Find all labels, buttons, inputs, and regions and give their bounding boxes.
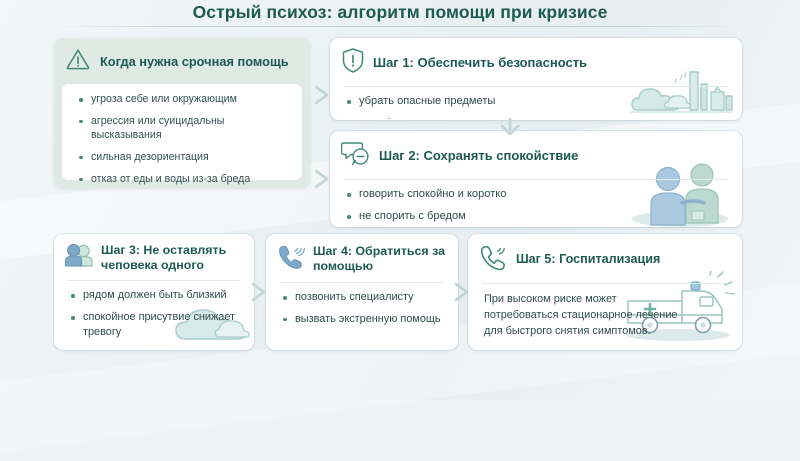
step3-list: рядом должен быть близкий спокойное прис… — [54, 281, 254, 349]
step5-header: Шаг 5: Госпитализация — [468, 234, 742, 276]
panel-step-5: Шаг 5: Госпитализация При высоком риске … — [468, 234, 742, 350]
chevron-step3-to-step4 — [249, 281, 271, 308]
urgent-header: Когда нужна срочная помощь — [54, 38, 310, 76]
step4-title: Шаг 4: Обратиться за помощью — [313, 244, 446, 274]
list-item: убрать опасные предметы — [346, 94, 730, 109]
chevron-urgent-to-step2 — [312, 168, 334, 195]
warning-triangle-icon — [65, 47, 91, 76]
arrow-step1-to-step2 — [497, 118, 523, 140]
phone-call-icon — [479, 243, 508, 276]
step1-header: Шаг 1: Обеспечить безопасность — [330, 38, 742, 79]
list-item: сильная дезориентация — [78, 150, 292, 164]
list-item: позвонить специалисту — [282, 290, 446, 305]
page-title: Острый психоз: алгоритм помощи при кризи… — [0, 2, 800, 23]
urgent-list-card: угроза себе или окружающим агрессия или … — [62, 84, 302, 180]
step1-title: Шаг 1: Обеспечить безопасность — [373, 55, 587, 71]
panel-step-4: Шаг 4: Обратиться за помощью позвонить с… — [266, 234, 458, 350]
list-item: отказ от еды и воды из-за бреда — [78, 172, 292, 186]
step2-header: Шаг 2: Сохранять спокойствие — [330, 131, 742, 172]
title-divider — [55, 26, 745, 27]
step5-body: При высоком риске может потребоваться ст… — [468, 284, 698, 340]
list-item: говорить спокойно и коротко — [346, 187, 730, 202]
list-item: ограninить доступ к окнам и лекарствам — [346, 116, 730, 120]
step4-list: позвонить специалисту вызвать экстренную… — [266, 283, 458, 336]
step2-list: говорить спокойно и коротко не спорить с… — [330, 180, 742, 227]
chevron-step4-to-step5 — [452, 281, 474, 308]
step2-title: Шаг 2: Сохранять спокойствие — [379, 148, 578, 164]
step3-title: Шаг 3: Не оставлять чеповека одного — [101, 243, 242, 273]
list-item: агрессия или суицидальны высказывания — [78, 114, 292, 143]
speech-bubbles-icon — [341, 140, 371, 172]
step4-header: Шаг 4: Обратиться за помощью — [266, 234, 458, 275]
panel-step-3: Шаг 3: Не оставлять чеповека одного рядо… — [54, 234, 254, 350]
list-item: спокойное присутвие снижает тревогу — [70, 310, 242, 339]
shield-exclamation-icon — [341, 47, 365, 79]
panel-step-1: Шаг 1: Обеспечить безопасность убрать оп… — [330, 38, 742, 120]
list-item: не спорить с бредом — [346, 209, 730, 224]
step5-title: Шаг 5: Госпитализация — [516, 252, 660, 267]
chevron-urgent-to-step1 — [312, 84, 334, 111]
panel-urgent-help: Когда нужна срочная помощь угроза себе и… — [54, 38, 310, 188]
two-persons-icon — [65, 244, 93, 273]
urgent-list: угроза себе или окружающим агрессия или … — [72, 92, 296, 188]
phone-call-icon — [277, 243, 305, 275]
list-item: вызвать экстренную помощь — [282, 312, 446, 327]
step3-header: Шаг 3: Не оставлять чеповека одного — [54, 234, 254, 273]
list-item: угроза себе или окружающим — [78, 92, 292, 106]
list-item: рядом должен быть близкий — [70, 288, 242, 303]
step1-list: убрать опасные предметы ограninить досту… — [330, 87, 742, 120]
panel-step-2: Шаг 2: Сохранять спокойствие говорить сп… — [330, 131, 742, 227]
urgent-title: Когда нужна срочная помощь — [100, 54, 289, 70]
